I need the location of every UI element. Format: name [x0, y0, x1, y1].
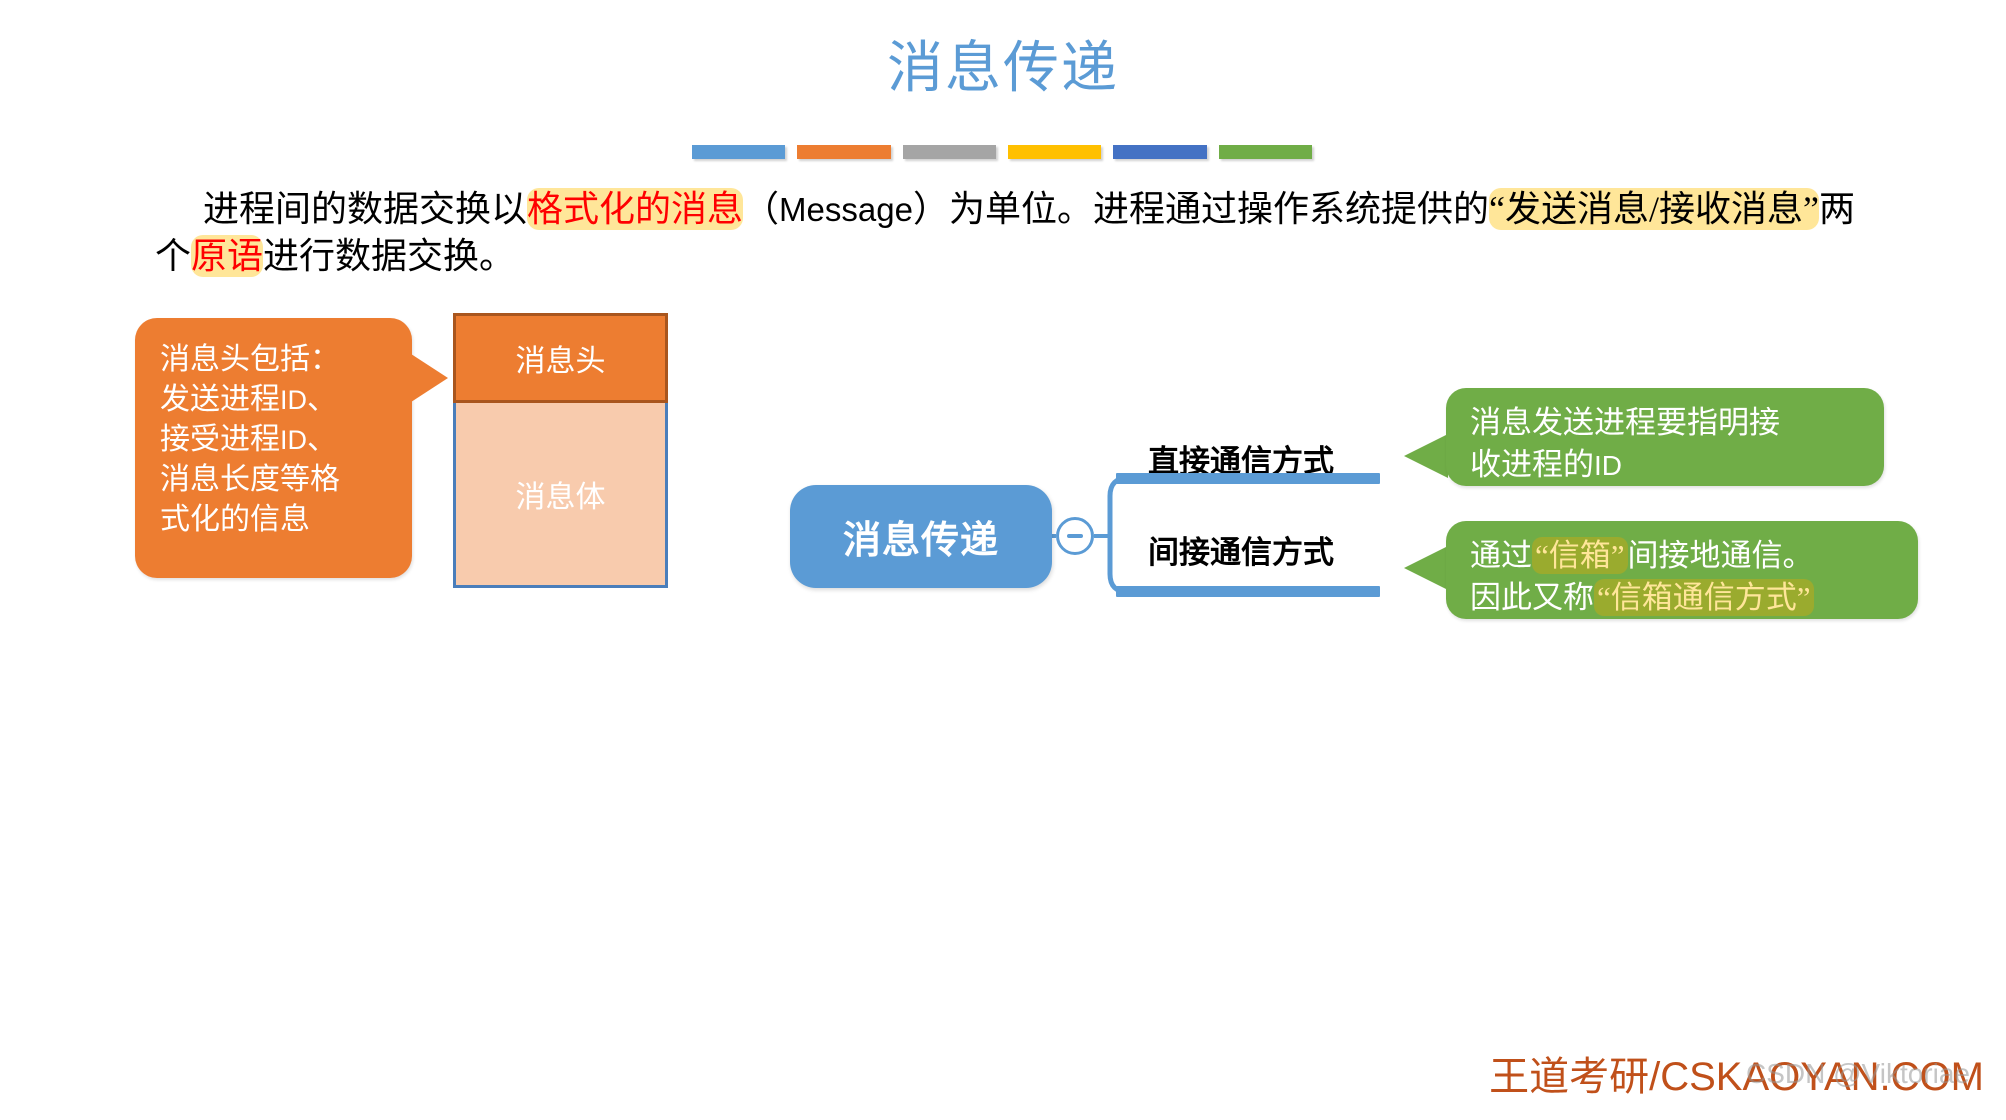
- paragraph-term-message: Message: [779, 191, 913, 228]
- message-body-block: 消息体: [453, 403, 668, 588]
- title-bar-orange: [797, 145, 890, 159]
- message-header-callout: 消息头包括： 发送进程ID、 接受进程ID、 消息长度等格 式化的信息: [135, 318, 412, 578]
- callout-line-3-suffix: 、: [307, 423, 337, 456]
- paragraph-segment-1: 进程间的数据交换以: [203, 189, 527, 229]
- green-callout-2-highlight-mailbox-mode: “信箱通信方式”: [1594, 579, 1814, 616]
- paragraph-segment-4: ）为单位。进程通过操作系统提供的: [913, 189, 1489, 229]
- message-header-block: 消息头: [453, 313, 668, 403]
- callout-line-3: 接受进程ID、: [160, 420, 396, 460]
- indirect-communication-note: 通过“信箱”间接地通信。 因此又称“信箱通信方式”: [1446, 521, 1918, 619]
- callout-line-5: 式化的信息: [160, 500, 396, 540]
- paragraph-segment-8: 进行数据交换。: [263, 236, 515, 276]
- green-callout-tail-icon-2: [1404, 546, 1448, 590]
- green-callout-1-line-2-text: 收进程的: [1470, 447, 1594, 482]
- green-callout-1-line-2: 收进程的ID: [1470, 444, 1864, 487]
- callout-tail-triangle-icon: [408, 352, 448, 404]
- direct-communication-note: 消息发送进程要指明接 收进程的ID: [1446, 388, 1884, 486]
- message-structure-diagram: 消息头 消息体: [453, 313, 668, 588]
- callout-line-2-text: 发送进程: [160, 383, 280, 416]
- callout-line-2-id: ID: [280, 385, 307, 415]
- page-title: 消息传递: [0, 40, 2006, 99]
- mindmap-root-label: 消息传递: [843, 509, 999, 564]
- mindmap-branch-label-indirect[interactable]: 间接通信方式: [1148, 527, 1334, 572]
- title-bar-blue-light: [692, 145, 785, 159]
- footer-brand: 王道考研/CSKAOYAN.COM: [1489, 1044, 1984, 1102]
- green-callout-2-highlight-mailbox: “信箱”: [1532, 537, 1628, 574]
- minus-icon[interactable]: [1056, 517, 1094, 555]
- title-bar-blue-dark: [1113, 145, 1206, 159]
- title-bar-green: [1219, 145, 1312, 159]
- title-decoration-bars: [692, 145, 1312, 159]
- callout-line-3-text: 接受进程: [160, 423, 280, 456]
- green-callout-1-line-2-id: ID: [1594, 450, 1622, 481]
- green-callout-tail-icon-1: [1404, 434, 1448, 478]
- mindmap-root-node[interactable]: 消息传递: [790, 485, 1052, 588]
- green-callout-2-line-2: 因此又称“信箱通信方式”: [1470, 577, 1898, 619]
- green-callout-2-line-1-prefix: 通过: [1470, 538, 1532, 573]
- mindmap-branch-bar-indirect: [1116, 586, 1380, 597]
- title-bar-gray: [903, 145, 996, 159]
- callout-line-2-suffix: 、: [307, 383, 337, 416]
- callout-line-1: 消息头包括：: [160, 340, 396, 380]
- green-callout-2-line-1-suffix: 间接地通信。: [1628, 538, 1814, 573]
- body-paragraph: 进程间的数据交换以格式化的消息（Message）为单位。进程通过操作系统提供的“…: [155, 186, 1855, 280]
- green-callout-1-line-1: 消息发送进程要指明接: [1470, 402, 1864, 444]
- title-bar-yellow: [1008, 145, 1101, 159]
- paragraph-highlight-primitive: 原语: [191, 235, 263, 277]
- green-callout-2-line-2-prefix: 因此又称: [1470, 580, 1594, 615]
- callout-line-2: 发送进程ID、: [160, 380, 396, 420]
- paragraph-highlight-formatted-message: 格式化的消息: [527, 188, 743, 230]
- callout-line-3-id: ID: [280, 425, 307, 455]
- paragraph-highlight-send-receive: “发送消息/接收消息”: [1489, 188, 1819, 230]
- paragraph-segment-3: （: [743, 189, 779, 229]
- callout-line-4: 消息长度等格: [160, 460, 396, 500]
- mindmap-branch-bar-direct: [1116, 473, 1380, 484]
- message-body-label: 消息体: [516, 472, 606, 516]
- green-callout-2-line-1: 通过“信箱”间接地通信。: [1470, 535, 1898, 577]
- message-header-label: 消息头: [516, 336, 606, 380]
- minus-glyph: [1067, 534, 1083, 538]
